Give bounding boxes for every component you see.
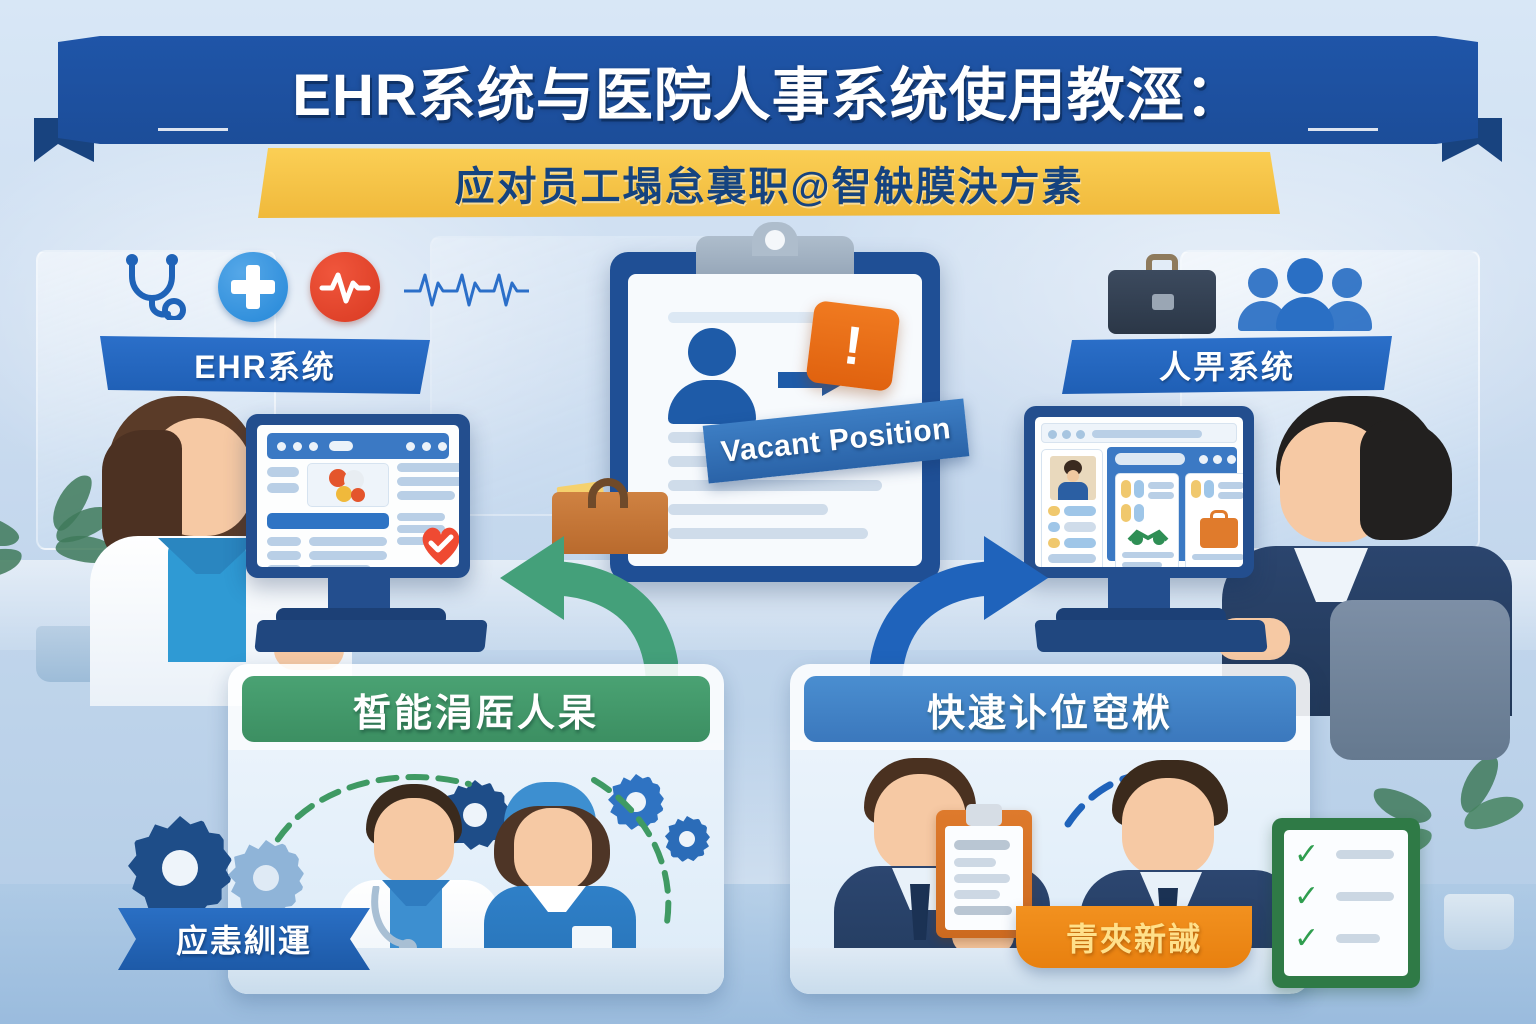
hr-avatar xyxy=(1050,456,1096,500)
label-hr-system-text: 人畀系统 xyxy=(1159,342,1295,388)
ecg-line-icon xyxy=(402,265,534,309)
person-silhouette-icon xyxy=(668,328,756,420)
stethoscope-icon xyxy=(122,254,196,320)
hr-hair-side xyxy=(1360,420,1452,540)
warning-mark: ! xyxy=(841,318,865,374)
page-title: EHR系统与医院人事系统使用教涇： xyxy=(58,36,1478,144)
ehr-highlight-row xyxy=(267,513,389,529)
hr-icon-row xyxy=(1108,254,1368,334)
badge-left: 应恚紃運 xyxy=(118,908,370,970)
briefcase-icon xyxy=(1108,254,1216,334)
checklist-sheet: ✓ ✓ ✓ xyxy=(1284,830,1408,976)
ehr-icon-row xyxy=(122,252,534,322)
hr-chair xyxy=(1330,600,1510,760)
panel-left-header: 皙能涓厒人杲 xyxy=(242,676,710,742)
ehr-keyboard xyxy=(254,620,487,652)
ehr-chart-card xyxy=(307,463,389,507)
badge-right: 青夾新誡 xyxy=(1016,906,1252,968)
ehr-monitor-stand xyxy=(328,578,390,610)
plant-right xyxy=(1418,790,1536,970)
hr-monitor-stand xyxy=(1108,578,1170,610)
vacant-position-text: Vacant Position xyxy=(719,412,952,470)
hr-listing-pane xyxy=(1107,447,1237,561)
heartbeat-icon xyxy=(310,252,380,322)
handshake-icon xyxy=(1125,526,1171,548)
ehr-monitor[interactable] xyxy=(246,414,470,578)
hr-job-card-1[interactable] xyxy=(1115,473,1179,567)
hr-job-card-2[interactable] xyxy=(1185,473,1243,567)
checklist-icon: ✓ ✓ ✓ xyxy=(1272,818,1420,988)
heart-health-icon xyxy=(417,521,459,567)
warning-icon: ! xyxy=(805,300,900,392)
people-group-icon xyxy=(1238,257,1368,331)
panel-left-header-text: 皙能涓厒人杲 xyxy=(353,682,599,737)
clipboard-hole xyxy=(765,230,785,250)
ehr-screen[interactable] xyxy=(257,425,459,567)
label-ehr-system-text: EHR系统 xyxy=(194,342,336,388)
panel-right-header-text: 快逮讣位窀栿 xyxy=(927,682,1173,737)
label-hr-system: 人畀系统 xyxy=(1062,336,1392,394)
page-subtitle: 应对员工塌怠裏职@智觖膜決方素 xyxy=(454,154,1083,212)
ehr-screen-topbar xyxy=(267,433,449,459)
job-briefcase-icon xyxy=(1200,518,1238,548)
label-ehr-system: EHR系统 xyxy=(100,336,430,394)
badge-left-text: 应恚紃運 xyxy=(176,916,312,962)
title-ribbon: EHR系统与医院人事系统使用教涇： xyxy=(58,36,1478,144)
hr-browser-bar xyxy=(1041,423,1237,443)
panel-right-header: 快逮讣位窀栿 xyxy=(804,676,1296,742)
infographic-poster: EHR系统与医院人事系统使用教涇： 应对员工塌怠裏职@智觖膜決方素 EHR系统 xyxy=(0,0,1536,1024)
subtitle-bar: 应对员工塌怠裏职@智觖膜決方素 xyxy=(258,148,1280,218)
badge-right-text: 青夾新誡 xyxy=(1066,914,1202,960)
medical-cross-icon xyxy=(218,252,288,322)
